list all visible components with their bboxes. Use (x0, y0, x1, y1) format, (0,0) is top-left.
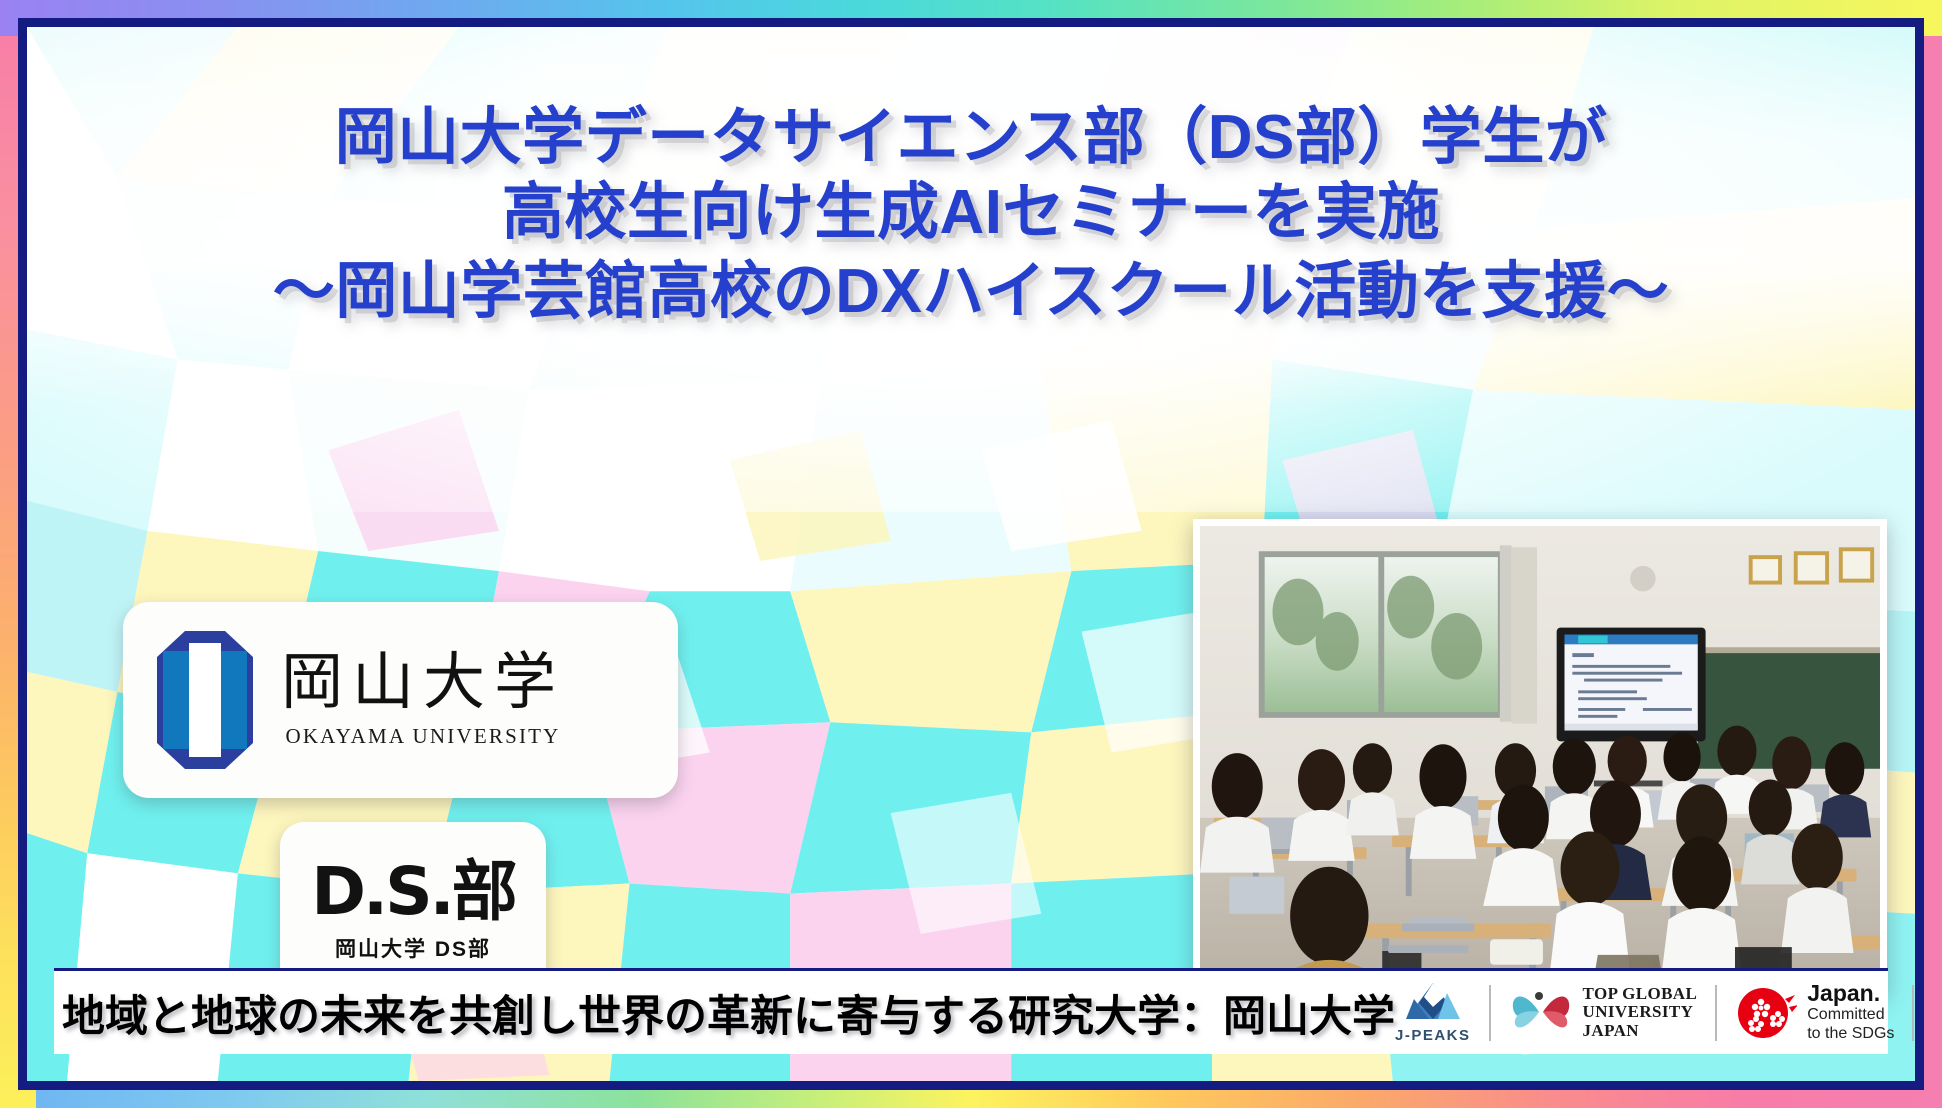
tgu-line-2: UNIVERSITY (1583, 1003, 1698, 1021)
classroom-seminar-photo (1193, 519, 1887, 995)
okayama-university-mark-icon (157, 631, 253, 769)
sakura-circle-icon (1735, 985, 1797, 1041)
j-peaks-logo: J-PEAKS (1395, 981, 1471, 1044)
japan-sdgs-title: Japan. (1807, 982, 1894, 1005)
okayama-university-kanji: 岡山大学 (281, 652, 565, 714)
tgu-line-1: TOP GLOBAL (1583, 985, 1698, 1003)
ds-club-caption: 岡山大学 DS部 (335, 933, 491, 963)
japan-sdgs-line-1: Committed (1807, 1005, 1894, 1024)
footer-separator-3 (1912, 985, 1914, 1041)
footer-separator-1 (1489, 985, 1491, 1041)
top-global-university-japan-text: TOP GLOBAL UNIVERSITY JAPAN (1583, 985, 1698, 1039)
ds-club-wordmark: D.S.部 (311, 859, 514, 925)
japan-sdgs-line-2: to the SDGs (1807, 1024, 1894, 1043)
footer-bar: 地域と地球の未来を共創し世界の革新に寄与する研究大学：岡山大学 J-PEAKS (54, 968, 1888, 1054)
classroom-photo-svg (1200, 526, 1880, 988)
butterfly-icon (1509, 986, 1573, 1038)
top-global-university-japan-logo: TOP GLOBAL UNIVERSITY JAPAN (1509, 985, 1698, 1039)
okayama-university-english: OKAYAMA UNIVERSITY (285, 724, 560, 749)
j-peaks-label: J-PEAKS (1395, 1027, 1471, 1044)
poster-root: 岡山大学データサイエンス部（DS部）学生が 高校生向け生成AIセミナーを実施 〜… (0, 0, 1942, 1108)
japan-sdgs-logo: Japan. Committed to the SDGs (1735, 982, 1894, 1043)
japan-sdgs-text: Japan. Committed to the SDGs (1807, 982, 1894, 1043)
footer-tagline: 地域と地球の未来を共創し世界の革新に寄与する研究大学：岡山大学 (62, 982, 1395, 1044)
tgu-line-3: JAPAN (1583, 1022, 1698, 1040)
okayama-university-logo-card: 岡山大学 OKAYAMA UNIVERSITY (123, 602, 678, 798)
footer-logo-group: J-PEAKS TOP GLOBAL UNIVERSITY JAPAN (1395, 971, 1924, 1054)
j-peaks-mountain-icon (1402, 981, 1464, 1025)
footer-separator-2 (1715, 985, 1717, 1041)
inner-navy-frame: 岡山大学データサイエンス部（DS部）学生が 高校生向け生成AIセミナーを実施 〜… (18, 18, 1924, 1090)
okayama-university-wordmark: 岡山大学 OKAYAMA UNIVERSITY (281, 652, 565, 749)
